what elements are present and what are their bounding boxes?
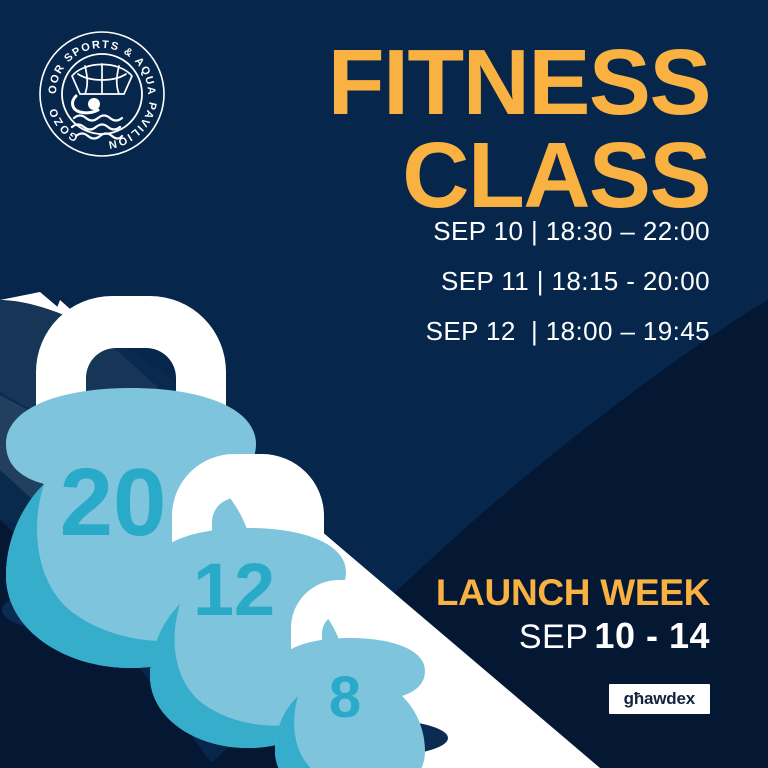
- fitness-class-poster: 20 12 8: [0, 0, 768, 768]
- launch-week-block: LAUNCH WEEK SEP10 - 14: [290, 574, 710, 654]
- headline-line-1: FITNESS: [150, 38, 710, 127]
- logo-arc-text-top: INDOOR SPORTS & AQUATIC: [38, 30, 157, 96]
- kettlebell-12-weight-label: 12: [193, 548, 275, 631]
- kettlebell-20-weight-label: 20: [60, 449, 167, 556]
- logo-basketball: [72, 64, 132, 94]
- schedule-row-3: SEP 12 | 18:00 – 19:45: [150, 318, 710, 344]
- ghawdex-badge-label: għawdex: [624, 690, 695, 707]
- launch-week-title: LAUNCH WEEK: [290, 574, 710, 611]
- kettlebell-8-weight-label: 8: [329, 665, 361, 730]
- schedule-list: SEP 10 | 18:30 – 22:00 SEP 11 | 18:15 - …: [150, 218, 710, 368]
- launch-week-month: SEP: [519, 618, 589, 656]
- launch-week-range: 10 - 14: [594, 615, 710, 656]
- headline-line-2: CLASS: [150, 131, 710, 220]
- gozo-pavilion-logo: INDOOR SPORTS & AQUATIC PAVILION GOZO: [38, 30, 166, 158]
- logo-swimmer: [73, 96, 100, 113]
- ghawdex-badge: għawdex: [609, 684, 710, 714]
- schedule-row-1: SEP 10 | 18:30 – 22:00: [150, 218, 710, 244]
- poster-headline: FITNESS CLASS: [150, 38, 710, 221]
- launch-week-dates: SEP10 - 14: [290, 618, 710, 654]
- schedule-row-2: SEP 11 | 18:15 - 20:00: [150, 268, 710, 294]
